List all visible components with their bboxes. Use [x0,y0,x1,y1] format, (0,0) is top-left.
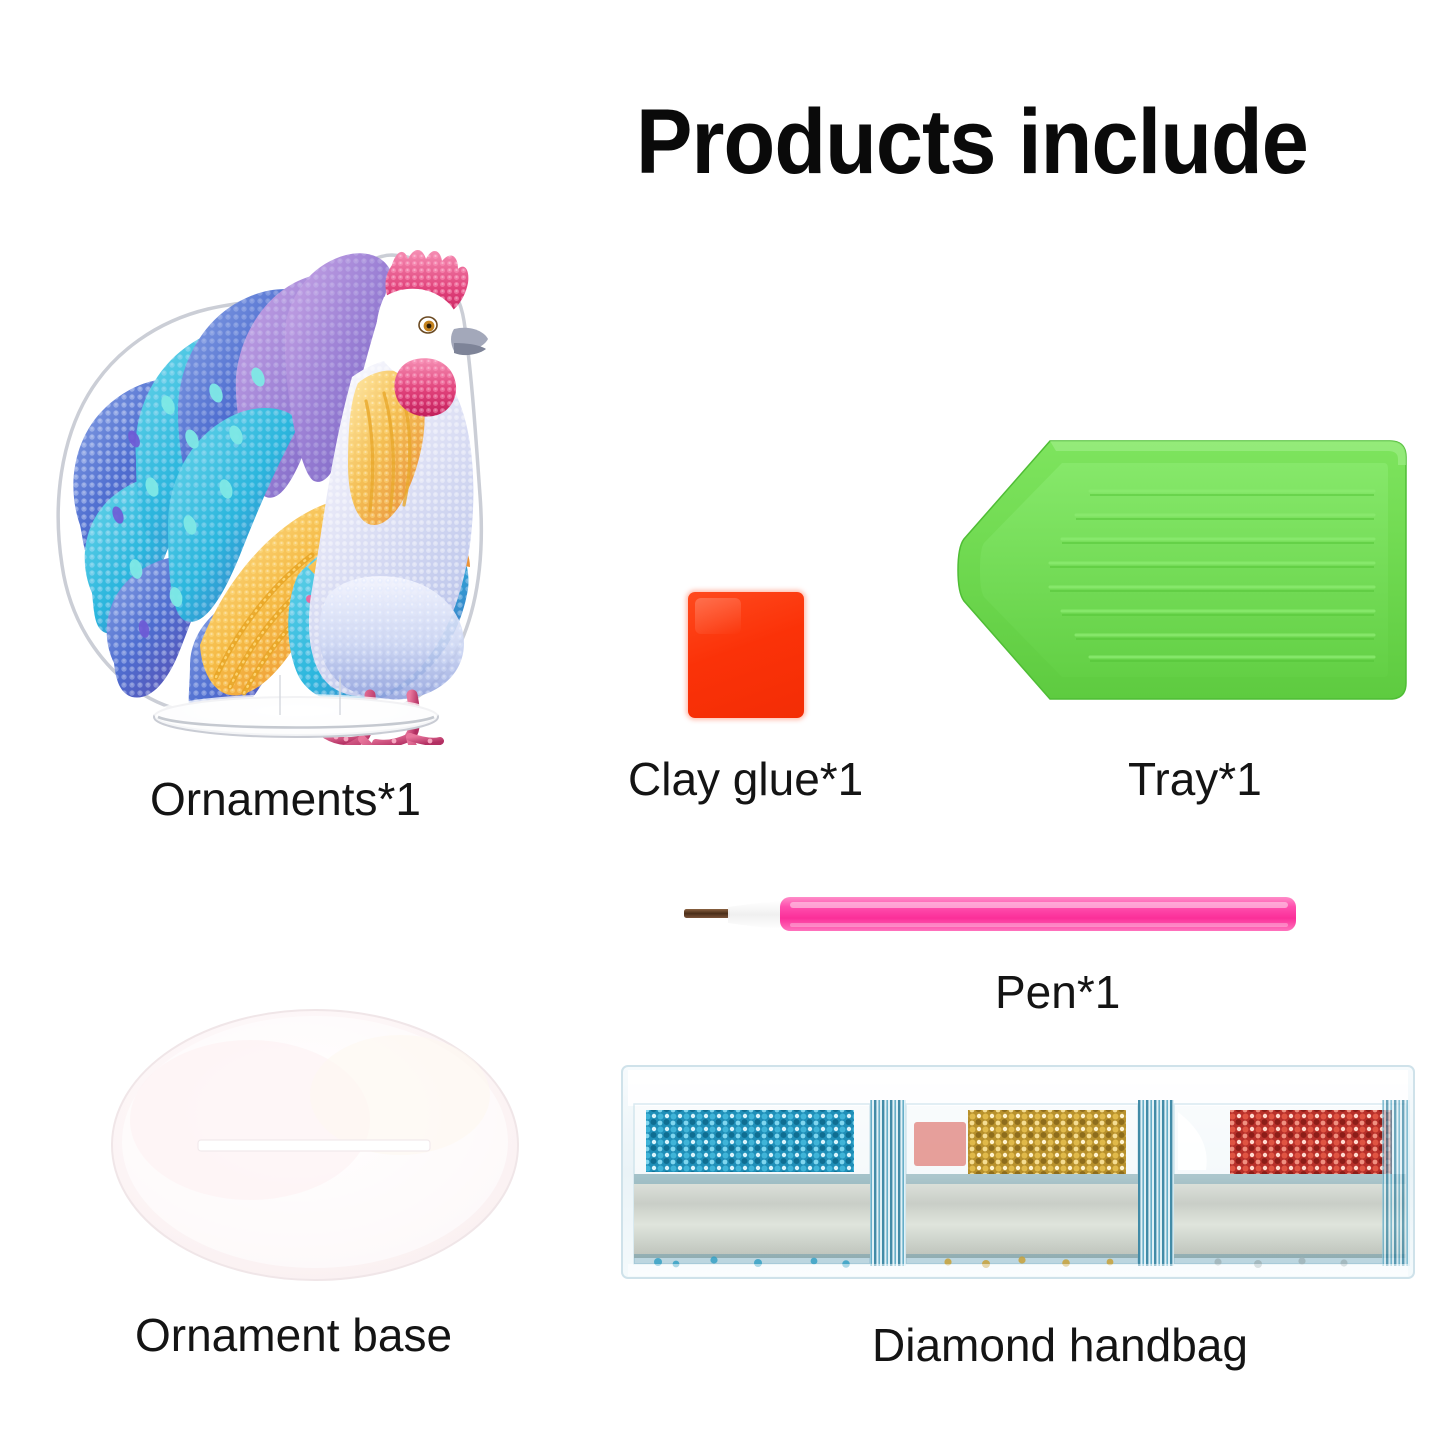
tray-image [950,425,1420,715]
diamond-handbag-image [618,1048,1418,1298]
ornament-image [40,225,540,745]
drill-tray-icon [950,425,1420,715]
pen-label: Pen*1 [995,965,1120,1019]
pen-image [680,885,1300,945]
oval-stand-base-icon [100,1000,530,1290]
clay-glue-highlight [695,598,741,633]
clay-glue-image [688,592,804,718]
ornaments-label: Ornaments*1 [150,772,421,826]
diamond-handbag-label: Diamond handbag [872,1318,1248,1372]
tray-label: Tray*1 [1128,752,1262,806]
rooster-ornament-icon [40,225,540,745]
page-title: Products include [636,96,1372,188]
ornament-base-image [100,1000,530,1290]
clay-glue-label: Clay glue*1 [628,752,863,806]
drill-pen-icon [680,885,1300,945]
rhinestone-bag-icon [618,1048,1418,1298]
ornament-base-label: Ornament base [135,1308,452,1362]
